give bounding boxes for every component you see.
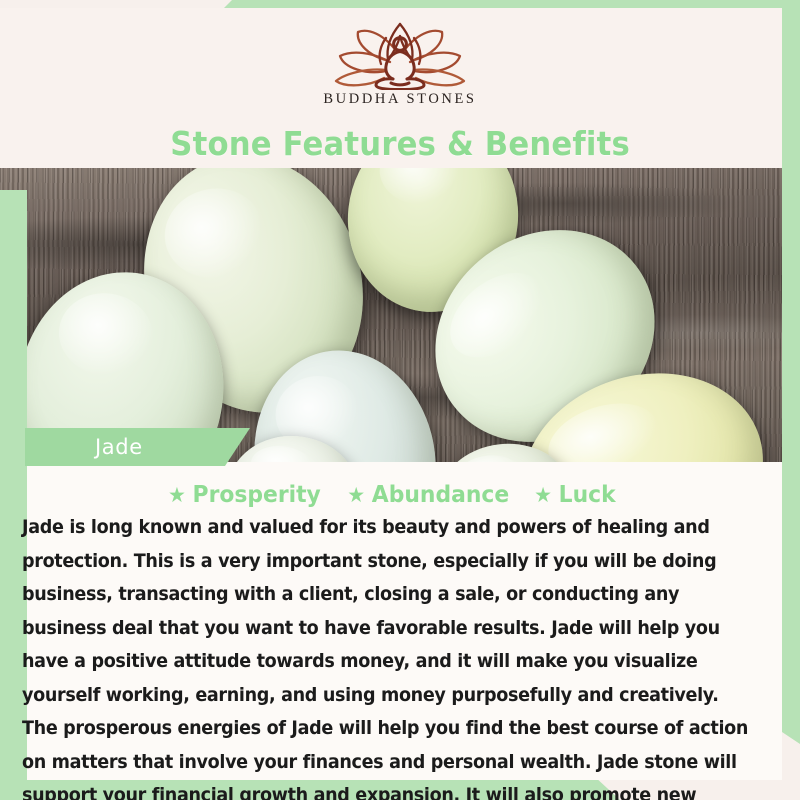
stone-description: Jade is long known and valued for its be… xyxy=(22,511,755,800)
lotus-meditation-icon xyxy=(324,18,476,90)
benefit-label: Luck xyxy=(558,482,615,508)
stone-name-badge: Jade xyxy=(25,428,250,466)
benefits-row: ★ Prosperity ★ Abundance ★ Luck xyxy=(0,478,782,512)
star-icon: ★ xyxy=(348,485,366,506)
brand-name: BUDDHA STONES xyxy=(323,91,476,108)
benefit-abundance: ★ Abundance xyxy=(348,482,510,508)
brand-logo: BUDDHA STONES xyxy=(0,18,800,116)
stone-name-label: Jade xyxy=(95,435,143,459)
page-title: Stone Features & Benefits xyxy=(170,124,630,163)
benefit-luck: ★ Luck xyxy=(534,482,616,508)
star-icon: ★ xyxy=(169,485,187,506)
star-icon: ★ xyxy=(534,485,552,506)
stone-info-card: Jade xyxy=(0,0,800,800)
benefit-label: Abundance xyxy=(372,482,509,508)
benefit-prosperity: ★ Prosperity xyxy=(169,482,322,508)
title-banner: Stone Features & Benefits xyxy=(0,119,800,167)
jade-stones-photo xyxy=(0,168,782,462)
benefit-label: Prosperity xyxy=(193,482,321,508)
